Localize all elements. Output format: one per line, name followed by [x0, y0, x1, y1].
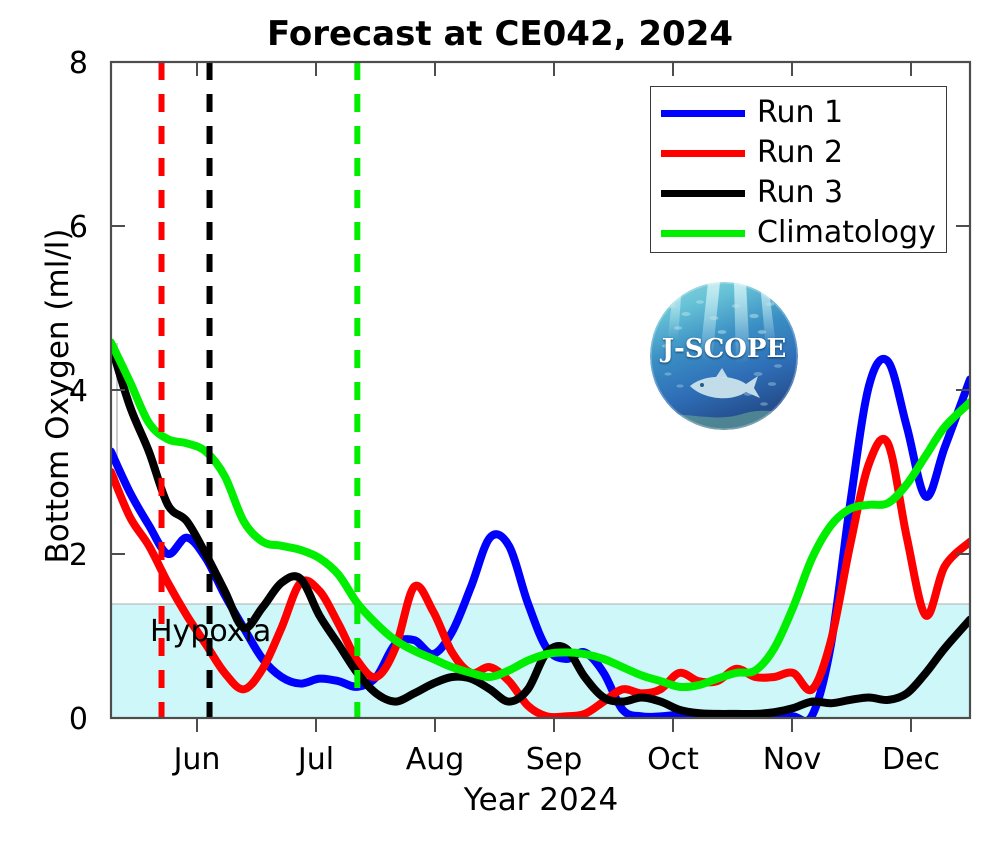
legend-item-run-2[interactable]: Run 2 [661, 133, 936, 173]
chart-figure: Forecast at CE042, 2024 Bottom Oxygen (m… [0, 0, 1000, 847]
legend-swatch-climatology [661, 230, 745, 237]
legend-swatch-run-1 [661, 110, 745, 117]
legend-item-run-1[interactable]: Run 1 [661, 93, 936, 133]
chart-legend: Run 1 Run 2 Run 3 Climatology [650, 86, 947, 253]
legend-item-run-3[interactable]: Run 3 [661, 173, 936, 213]
legend-label-climatology: Climatology [757, 218, 936, 248]
legend-label-run-2: Run 2 [757, 138, 843, 168]
jscope-logo: J-SCOPE [650, 282, 798, 430]
hypoxia-annotation: Hypoxia [150, 614, 271, 649]
legend-swatch-run-2 [661, 150, 745, 157]
legend-label-run-1: Run 1 [757, 98, 843, 128]
legend-item-climatology[interactable]: Climatology [661, 213, 936, 253]
legend-swatch-run-3 [661, 190, 745, 197]
legend-label-run-3: Run 3 [757, 178, 843, 208]
jscope-logo-text: J-SCOPE [650, 334, 798, 364]
